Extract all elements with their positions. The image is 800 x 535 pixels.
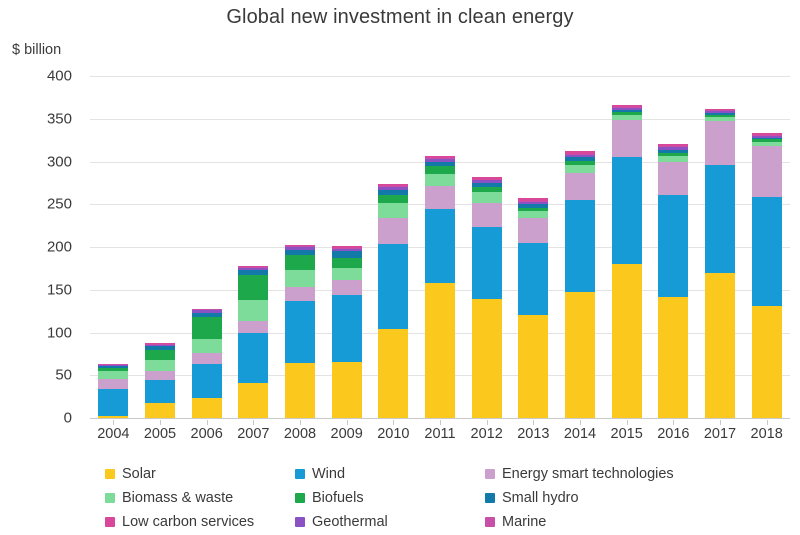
legend-label-solar: Solar [122, 467, 156, 482]
bar-group-2014[interactable] [565, 151, 595, 418]
x-tick-label-2017: 2017 [704, 426, 736, 442]
x-tick-label-2006: 2006 [191, 426, 223, 442]
y-tick-label-300: 300 [2, 153, 72, 170]
y-tick-label-250: 250 [2, 196, 72, 213]
x-tick-label-2011: 2011 [424, 426, 455, 442]
x-tick-label-2009: 2009 [331, 426, 363, 442]
x-tick-2015 [627, 420, 628, 425]
bar-segment-2008-biofuels[interactable] [285, 255, 315, 270]
bar-group-2012[interactable] [472, 177, 502, 418]
bar-segment-2017-wind[interactable] [705, 165, 735, 273]
y-tick-label-0: 0 [2, 410, 72, 427]
x-tick-label-2015: 2015 [611, 426, 643, 442]
bar-group-2017[interactable] [705, 109, 735, 418]
legend-item-biofuels[interactable]: Biofuels [295, 491, 485, 506]
legend-swatch-biofuels [295, 493, 305, 503]
bar-segment-2009-energy-smart-technologies[interactable] [332, 280, 362, 295]
bar-segment-2011-solar[interactable] [425, 283, 455, 418]
plot-area: 050100150200250300350400 [90, 76, 790, 418]
bar-group-2009[interactable] [332, 246, 362, 418]
legend-label-low-carbon-services: Low carbon services [122, 515, 254, 530]
bar-segment-2009-small-hydro[interactable] [332, 251, 362, 258]
bar-segment-2017-solar[interactable] [705, 273, 735, 418]
legend-swatch-wind [295, 469, 305, 479]
legend-item-low-carbon-services[interactable]: Low carbon services [105, 515, 295, 530]
x-tick-2014 [580, 420, 581, 425]
bar-segment-2015-energy-smart-technologies[interactable] [612, 120, 642, 157]
bar-segment-2009-biomass-waste[interactable] [332, 268, 362, 280]
bar-group-2011[interactable] [425, 156, 455, 418]
legend-label-wind: Wind [312, 467, 345, 482]
bar-segment-2010-biomass-waste[interactable] [378, 203, 408, 218]
x-tick-2016 [673, 420, 674, 425]
x-tick-2005 [160, 420, 161, 425]
bar-segment-2013-solar[interactable] [518, 315, 548, 418]
x-tick-label-2013: 2013 [517, 426, 549, 442]
legend-item-energy-smart-technologies[interactable]: Energy smart technologies [485, 467, 745, 482]
y-tick-label-400: 400 [2, 68, 72, 85]
bar-segment-2006-biofuels[interactable] [192, 317, 222, 338]
bar-segment-2010-energy-smart-technologies[interactable] [378, 218, 408, 245]
bar-segment-2005-energy-smart-technologies[interactable] [145, 371, 175, 380]
legend-label-small-hydro: Small hydro [502, 491, 579, 506]
legend-item-small-hydro[interactable]: Small hydro [485, 491, 745, 506]
bar-group-2006[interactable] [192, 309, 222, 418]
bar-segment-2011-energy-smart-technologies[interactable] [425, 186, 455, 209]
bar-segment-2004-solar[interactable] [98, 416, 128, 418]
y-tick-label-200: 200 [2, 239, 72, 256]
x-tick-label-2004: 2004 [97, 426, 129, 442]
bar-segment-2005-biomass-waste[interactable] [145, 360, 175, 371]
bar-segment-2007-energy-smart-technologies[interactable] [238, 321, 268, 334]
legend-label-biomass-waste: Biomass & waste [122, 491, 233, 506]
bar-segment-2007-wind[interactable] [238, 333, 268, 383]
legend-label-marine: Marine [502, 515, 546, 530]
bar-group-2013[interactable] [518, 198, 548, 418]
bar-segment-2004-biomass-waste[interactable] [98, 371, 128, 379]
bar-segment-2017-energy-smart-technologies[interactable] [705, 121, 735, 165]
bar-segment-2011-wind[interactable] [425, 209, 455, 283]
x-tick-2017 [720, 420, 721, 425]
legend-item-biomass-waste[interactable]: Biomass & waste [105, 491, 295, 506]
legend-swatch-energy-smart-technologies [485, 469, 495, 479]
y-tick-label-100: 100 [2, 324, 72, 341]
legend-swatch-small-hydro [485, 493, 495, 503]
bar-segment-2010-wind[interactable] [378, 244, 408, 329]
x-tick-label-2018: 2018 [751, 426, 783, 442]
bar-segment-2007-biofuels[interactable] [238, 275, 268, 300]
bar-segment-2006-solar[interactable] [192, 398, 222, 418]
legend-label-geothermal: Geothermal [312, 515, 388, 530]
bar-segment-2012-energy-smart-technologies[interactable] [472, 203, 502, 227]
bar-segment-2018-wind[interactable] [752, 197, 782, 306]
y-tick-label-350: 350 [2, 110, 72, 127]
legend-swatch-geothermal [295, 517, 305, 527]
legend-swatch-low-carbon-services [105, 517, 115, 527]
x-tick-2004 [113, 420, 114, 425]
bar-segment-2005-wind[interactable] [145, 380, 175, 404]
bar-segment-2010-solar[interactable] [378, 329, 408, 418]
legend-swatch-biomass-waste [105, 493, 115, 503]
legend-item-solar[interactable]: Solar [105, 467, 295, 482]
bar-segment-2014-energy-smart-technologies[interactable] [565, 173, 595, 200]
bar-segment-2007-biomass-waste[interactable] [238, 300, 268, 321]
bar-segment-2009-biofuels[interactable] [332, 258, 362, 268]
bars-layer [90, 76, 790, 418]
bar-segment-2008-solar[interactable] [285, 363, 315, 418]
x-tick-2011 [440, 420, 441, 425]
chart-legend: SolarWindEnergy smart technologiesBiomas… [105, 462, 795, 532]
bar-segment-2008-energy-smart-technologies[interactable] [285, 287, 315, 301]
bar-group-2018[interactable] [752, 133, 782, 418]
bar-segment-2014-wind[interactable] [565, 200, 595, 292]
bar-segment-2006-wind[interactable] [192, 364, 222, 398]
x-tick-label-2016: 2016 [657, 426, 689, 442]
bar-segment-2016-biomass-waste[interactable] [658, 156, 688, 163]
x-tick-label-2014: 2014 [564, 426, 596, 442]
x-tick-2012 [487, 420, 488, 425]
bar-segment-2016-energy-smart-technologies[interactable] [658, 162, 688, 194]
bar-segment-2006-biomass-waste[interactable] [192, 339, 222, 354]
legend-item-geothermal[interactable]: Geothermal [295, 515, 485, 530]
x-tick-label-2012: 2012 [471, 426, 503, 442]
legend-swatch-solar [105, 469, 115, 479]
bar-group-2004[interactable] [98, 364, 128, 418]
bar-segment-2004-energy-smart-technologies[interactable] [98, 379, 128, 389]
bar-segment-2009-wind[interactable] [332, 295, 362, 362]
legend-swatch-marine [485, 517, 495, 527]
bar-segment-2005-biofuels[interactable] [145, 350, 175, 360]
bar-segment-2011-biofuels[interactable] [425, 166, 455, 175]
bar-segment-2004-wind[interactable] [98, 389, 128, 416]
x-tick-label-2010: 2010 [377, 426, 409, 442]
x-tick-2013 [533, 420, 534, 425]
y-tick-label-150: 150 [2, 281, 72, 298]
bar-segment-2015-wind[interactable] [612, 157, 642, 264]
bar-group-2005[interactable] [145, 343, 175, 418]
x-tick-2007 [253, 420, 254, 425]
gridline-0 [90, 418, 790, 419]
bar-segment-2014-biomass-waste[interactable] [565, 165, 595, 173]
bar-segment-2005-solar[interactable] [145, 403, 175, 418]
bar-segment-2006-energy-smart-technologies[interactable] [192, 353, 222, 364]
bar-segment-2009-solar[interactable] [332, 362, 362, 418]
bar-group-2007[interactable] [238, 266, 268, 418]
bar-group-2010[interactable] [378, 184, 408, 418]
x-tick-label-2007: 2007 [237, 426, 269, 442]
bar-segment-2012-wind[interactable] [472, 227, 502, 299]
chart-title: Global new investment in clean energy [0, 6, 800, 29]
bar-segment-2012-solar[interactable] [472, 299, 502, 418]
legend-item-marine[interactable]: Marine [485, 515, 745, 530]
bar-segment-2007-solar[interactable] [238, 383, 268, 418]
bar-segment-2016-wind[interactable] [658, 195, 688, 298]
bar-group-2008[interactable] [285, 245, 315, 419]
bar-group-2015[interactable] [612, 105, 642, 418]
x-tick-2008 [300, 420, 301, 425]
bar-segment-2012-biomass-waste[interactable] [472, 192, 502, 203]
bar-segment-2014-solar[interactable] [565, 292, 595, 418]
x-axis: 2004200520062007200820092010201120122013… [90, 420, 790, 446]
bar-segment-2015-solar[interactable] [612, 264, 642, 418]
x-tick-2018 [767, 420, 768, 425]
x-tick-2010 [393, 420, 394, 425]
legend-label-biofuels: Biofuels [312, 491, 364, 506]
y-tick-label-50: 50 [2, 367, 72, 384]
x-tick-label-2005: 2005 [144, 426, 176, 442]
bar-segment-2008-wind[interactable] [285, 301, 315, 363]
bar-group-2016[interactable] [658, 144, 688, 418]
bar-segment-2013-wind[interactable] [518, 243, 548, 316]
bar-segment-2013-biomass-waste[interactable] [518, 211, 548, 218]
x-tick-2006 [207, 420, 208, 425]
bar-segment-2011-biomass-waste[interactable] [425, 174, 455, 186]
x-tick-2009 [347, 420, 348, 425]
bar-segment-2013-energy-smart-technologies[interactable] [518, 218, 548, 243]
legend-item-wind[interactable]: Wind [295, 467, 485, 482]
y-axis-unit-label: $ billion [12, 42, 61, 58]
clean-energy-investment-chart: Global new investment in clean energy $ … [0, 0, 800, 535]
bar-segment-2010-biofuels[interactable] [378, 195, 408, 204]
bar-segment-2016-solar[interactable] [658, 297, 688, 418]
bar-segment-2008-biomass-waste[interactable] [285, 270, 315, 287]
bar-segment-2018-solar[interactable] [752, 306, 782, 418]
x-tick-label-2008: 2008 [284, 426, 316, 442]
legend-label-energy-smart-technologies: Energy smart technologies [502, 467, 674, 482]
bar-segment-2018-energy-smart-technologies[interactable] [752, 146, 782, 197]
